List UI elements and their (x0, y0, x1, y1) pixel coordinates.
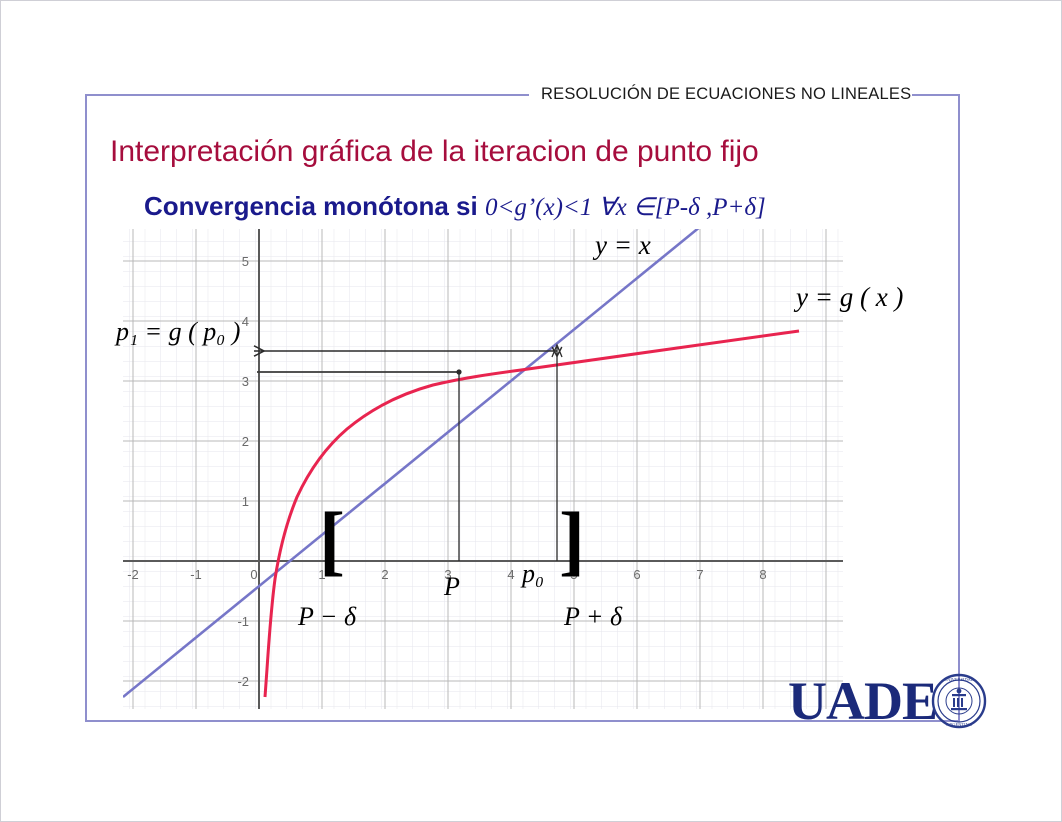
page-subtitle: Convergencia monótona si 0<g’(x)<1 ∀x ∈[… (144, 191, 766, 222)
page-title: Interpretación gráfica de la iteracion d… (110, 135, 759, 169)
chart-svg: -2 -1 0 1 2 3 4 5 6 7 8 5 4 3 2 1 -1 -2 (123, 229, 843, 709)
svg-text:-2: -2 (237, 674, 249, 689)
frame-line-left (85, 94, 87, 722)
subtitle-text: Convergencia monótona si (144, 191, 478, 221)
svg-text:0: 0 (250, 567, 257, 582)
subtitle-condition-math: 0<g’(x)<1 ∀x ∈[P-δ ,P+δ] (485, 194, 766, 221)
interval-bracket-close: ] (559, 501, 585, 579)
slide-header-title: RESOLUCIÓN DE ECUACIONES NO LINEALES (541, 85, 911, 104)
frame-line-top-right (912, 94, 960, 96)
uade-logo-wordmark: UADE (788, 674, 937, 728)
frame-line-right (958, 94, 960, 722)
svg-text:ARGENTINA: ARGENTINA (946, 722, 972, 727)
label-y-equals-g-of-x: y = g ( x ) (796, 282, 903, 313)
svg-text:7: 7 (696, 567, 703, 582)
slide-canvas: RESOLUCIÓN DE ECUACIONES NO LINEALES Int… (0, 0, 1062, 822)
svg-text:2: 2 (381, 567, 388, 582)
svg-text:3: 3 (242, 374, 249, 389)
frame-line-top-left (85, 94, 529, 96)
svg-text:8: 8 (759, 567, 766, 582)
svg-text:-1: -1 (237, 614, 249, 629)
label-y-equals-x: y = x (595, 230, 651, 261)
label-p-minus-delta: P − δ (298, 602, 356, 632)
chart-minor-grid (123, 229, 843, 709)
svg-text:6: 6 (633, 567, 640, 582)
uade-logo: UADE UNIVERSIDAD ARGENTINA (788, 673, 987, 729)
label-p-plus-delta: P + δ (564, 602, 622, 632)
svg-text:UNIVERSIDAD: UNIVERSIDAD (944, 677, 974, 682)
label-p1-equals-g-p0: p₁ = g ( p₀ ) (116, 317, 240, 347)
svg-text:1: 1 (242, 494, 249, 509)
svg-text:2: 2 (242, 434, 249, 449)
fixed-point-intersection-marker (456, 369, 461, 374)
svg-text:4: 4 (242, 314, 249, 329)
interval-bracket-open: [ (319, 501, 345, 579)
svg-text:-1: -1 (190, 567, 202, 582)
svg-text:4: 4 (507, 567, 514, 582)
svg-text:5: 5 (242, 254, 249, 269)
label-initial-point-p0: p₀ (522, 559, 544, 589)
svg-text:-2: -2 (127, 567, 139, 582)
fixed-point-iteration-chart: -2 -1 0 1 2 3 4 5 6 7 8 5 4 3 2 1 -1 -2 (123, 229, 843, 709)
label-fixed-point-P: P (444, 572, 460, 602)
uade-logo-seal-icon: UNIVERSIDAD ARGENTINA (931, 673, 987, 729)
